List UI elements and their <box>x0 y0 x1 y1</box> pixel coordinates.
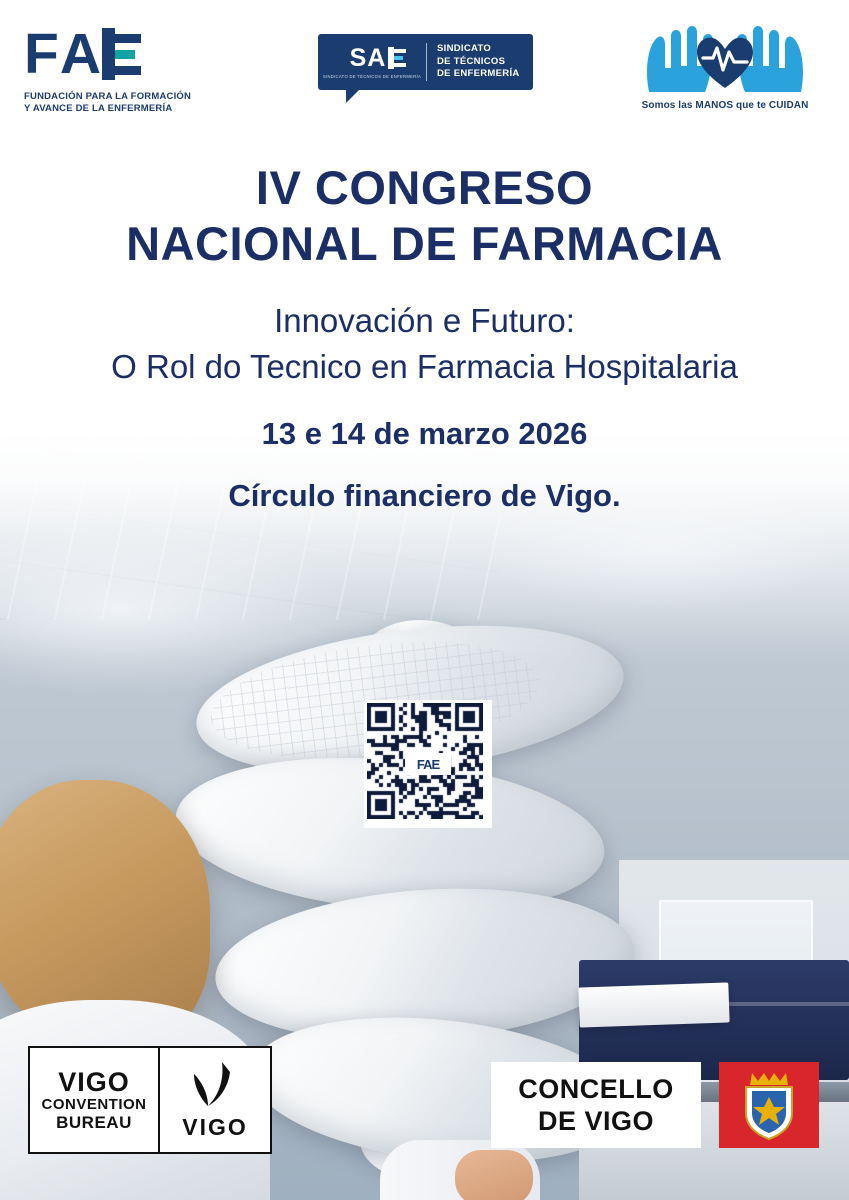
sae-logo-box: SA SINDICATO DE TÉCNICOS DE ENFERMERÍA S… <box>318 34 533 90</box>
vcb-line1: VIGO <box>58 1068 130 1096</box>
sae-wordmark: SA <box>350 46 395 71</box>
page-title: IV CONGRESO NACIONAL DE FARMACIA <box>0 160 849 272</box>
title-line-1: IV CONGRESO <box>0 160 849 216</box>
fae-e-bar-icon <box>102 28 115 80</box>
sae-logo-left: SA SINDICATO DE TÉCNICOS DE ENFERMERÍA <box>318 34 426 90</box>
vigo-sail-icon <box>178 1060 252 1114</box>
subtitle-line-1: Innovación e Futuro: <box>0 298 849 344</box>
fae-letter-f: F <box>24 28 57 80</box>
vcb-line3: BUREAU <box>56 1113 132 1132</box>
vigo-coat-of-arms-icon <box>719 1062 819 1148</box>
sae-logo: SA SINDICATO DE TÉCNICOS DE ENFERMERÍA S… <box>318 34 533 90</box>
subtitle-line-2: O Rol do Tecnico en Farmacia Hospitalari… <box>0 344 849 390</box>
concello-de-vigo-logo: CONCELLO DE VIGO <box>491 1062 701 1148</box>
qr-code[interactable]: FAE <box>364 700 492 828</box>
manos-logo: Somos las MANOS que te CUIDAN <box>635 22 815 111</box>
sae-descriptor-line2: DE TÉCNICOS <box>437 56 520 69</box>
vigo-convention-bureau-logo: VIGO CONVENTION BUREAU VIGO <box>28 1046 272 1154</box>
sae-descriptor: SINDICATO DE TÉCNICOS DE ENFERMERÍA <box>427 34 520 90</box>
fae-tagline: FUNDACIÓN PARA LA FORMACIÓN Y AVANCE DE … <box>24 91 234 115</box>
concello-line2: DE VIGO <box>538 1105 654 1137</box>
qr-center-label: FAE <box>417 757 439 772</box>
vcb-line2: CONVENTION <box>41 1096 146 1113</box>
sae-letters: SA <box>350 46 387 71</box>
poster-subtitle: Innovación e Futuro: O Rol do Tecnico en… <box>0 298 849 390</box>
vcb-text: VIGO CONVENTION BUREAU <box>30 1048 160 1152</box>
top-logo-row: F A FUNDACIÓN PARA LA FORMACIÓN Y AVANCE… <box>0 0 849 150</box>
fae-logo-mark: F A <box>24 28 234 84</box>
fae-letter-a: A <box>60 28 99 80</box>
photo-paper-tray <box>578 982 729 1027</box>
hands-heart-ecg-icon <box>635 22 815 96</box>
photo-person-hand <box>455 1150 533 1200</box>
sae-descriptor-line3: DE ENFERMERÍA <box>437 68 520 81</box>
vigo-wordmark: VIGO <box>182 1114 248 1141</box>
sae-descriptor-line1: SINDICATO <box>437 43 520 56</box>
sae-small-text: SINDICATO DE TÉCNICOS DE ENFERMERÍA <box>323 74 421 79</box>
poster-text-block: IV CONGRESO NACIONAL DE FARMACIA Innovac… <box>0 160 849 516</box>
concello-line1: CONCELLO <box>518 1073 674 1105</box>
qr-center-logo: FAE <box>405 753 451 775</box>
sae-e-bar-icon <box>388 47 394 69</box>
fae-tagline-line2: Y AVANCE DE LA ENFERMERÍA <box>24 103 234 115</box>
manos-caption: Somos las MANOS que te CUIDAN <box>635 100 815 111</box>
event-venue: Círculo financiero de Vigo. <box>0 476 849 516</box>
event-dates: 13 e 14 de marzo 2026 <box>0 414 849 454</box>
vigo-brand: VIGO <box>160 1048 270 1152</box>
fae-tagline-line1: FUNDACIÓN PARA LA FORMACIÓN <box>24 91 234 103</box>
title-line-2: NACIONAL DE FARMACIA <box>0 216 849 272</box>
congress-poster: F A FUNDACIÓN PARA LA FORMACIÓN Y AVANCE… <box>0 0 849 1200</box>
sae-speech-tail-icon <box>346 89 360 103</box>
fae-logo: F A FUNDACIÓN PARA LA FORMACIÓN Y AVANCE… <box>24 28 234 115</box>
